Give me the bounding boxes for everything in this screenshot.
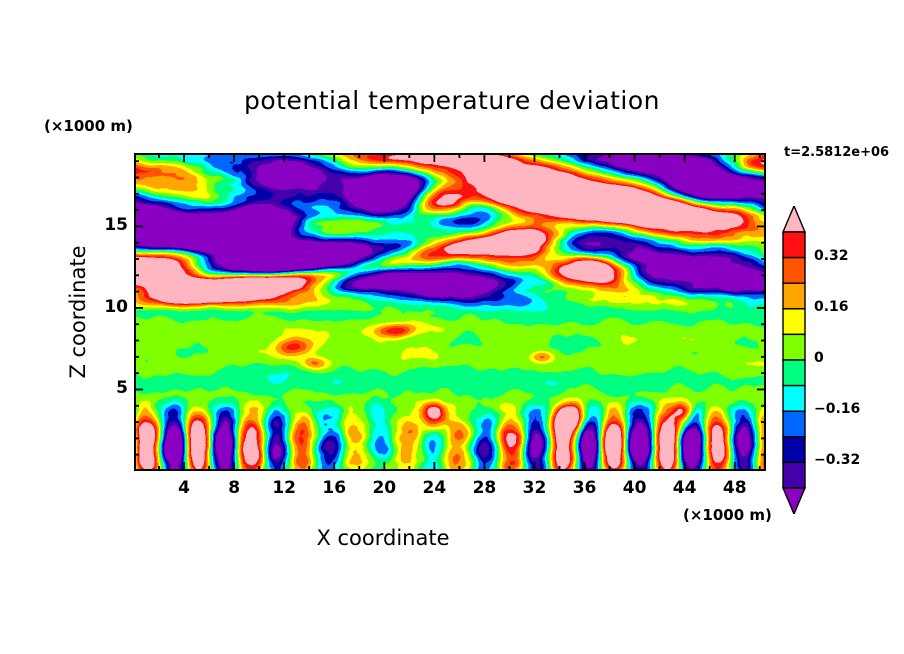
y-tick-label: 10	[88, 297, 128, 317]
colorbar	[780, 206, 810, 514]
colorbar-tick-label: 0.32	[814, 248, 849, 264]
colorbar-cap-high	[783, 206, 805, 232]
x-axis-unit-label: (×1000 m)	[683, 506, 772, 524]
colorbar-band	[783, 283, 805, 309]
x-axis-label: X coordinate	[0, 526, 766, 550]
contour-plot	[134, 153, 766, 471]
x-tick-label: 32	[514, 478, 554, 498]
colorbar-tick-label: −0.32	[814, 452, 860, 468]
y-tick-label: 5	[88, 378, 128, 398]
colorbar-band	[783, 334, 805, 360]
x-tick-label: 4	[164, 478, 204, 498]
x-tick-label: 36	[565, 478, 605, 498]
colorbar-band	[783, 462, 805, 488]
y-tick-label: 15	[88, 215, 128, 235]
colorbar-band	[783, 309, 805, 335]
colorbar-band	[783, 258, 805, 284]
y-axis-label: Z coordinate	[66, 212, 90, 412]
x-tick-label: 48	[715, 478, 755, 498]
x-tick-label: 28	[464, 478, 504, 498]
time-annotation: t=2.5812e+06	[784, 145, 889, 160]
colorbar-cap-low	[783, 488, 805, 514]
colorbar-tick-label: 0	[814, 350, 824, 366]
colorbar-tick-label: 0.16	[814, 299, 849, 315]
x-tick-label: 20	[364, 478, 404, 498]
x-tick-label: 44	[665, 478, 705, 498]
colorbar-band	[783, 360, 805, 386]
colorbar-band	[783, 437, 805, 463]
page-title: potential temperature deviation	[0, 86, 904, 115]
colorbar-band	[783, 411, 805, 437]
colorbar-band	[783, 232, 805, 258]
x-tick-label: 24	[414, 478, 454, 498]
colorbar-band	[783, 386, 805, 412]
x-tick-label: 40	[615, 478, 655, 498]
x-tick-label: 8	[214, 478, 254, 498]
colorbar-tick-label: −0.16	[814, 401, 860, 417]
y-axis-unit-label: (×1000 m)	[44, 117, 133, 135]
x-tick-label: 16	[314, 478, 354, 498]
x-tick-label: 12	[264, 478, 304, 498]
